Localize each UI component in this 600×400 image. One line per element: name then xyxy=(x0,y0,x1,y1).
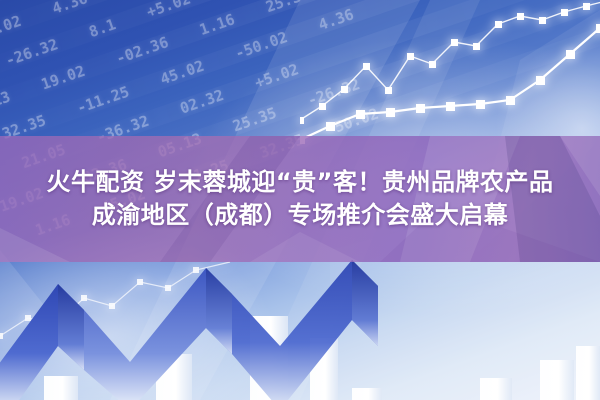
promo-banner: 45.0221.05-36.3232.358.1-11.25+5.024.36-… xyxy=(0,0,600,400)
title-band: 火牛配资 岁末蓉城迎“贵”客！贵州品牌农产品 成渝地区（成都）专场推介会盛大启幕 xyxy=(0,136,600,262)
banner-title-line-1: 火牛配资 岁末蓉城迎“贵”客！贵州品牌农产品 xyxy=(47,167,554,198)
banner-title-line-2: 成渝地区（成都）专场推介会盛大启幕 xyxy=(92,200,509,231)
zigzag-arrow-graphic xyxy=(0,250,400,400)
